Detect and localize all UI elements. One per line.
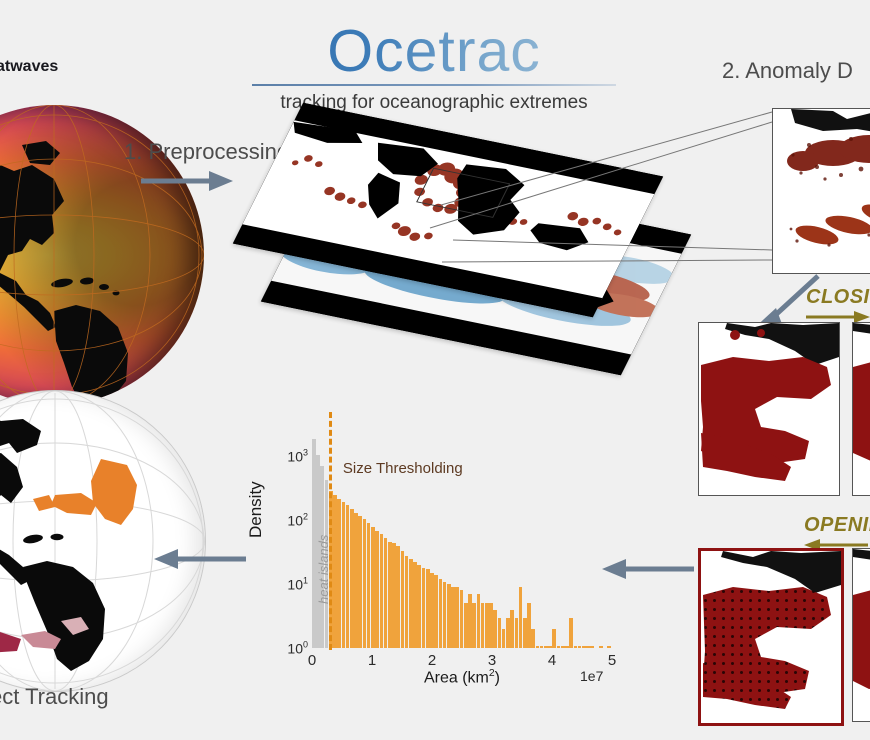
x-axis-title: Area (km2) — [312, 668, 612, 687]
histogram-bar — [358, 516, 362, 648]
page-title: Ocetrac — [236, 22, 632, 81]
histogram-bar — [405, 556, 409, 648]
anomaly-detection-inset — [772, 108, 870, 274]
heat-islands-annotation: heat islands — [316, 535, 331, 604]
histogram-bar — [515, 618, 519, 648]
histogram-bar — [464, 603, 468, 648]
tracked-blob-darkred — [0, 621, 21, 653]
histogram-bar — [367, 523, 371, 648]
histogram-bar — [430, 573, 434, 648]
histogram-bar — [569, 618, 573, 648]
histogram-bar — [350, 509, 354, 648]
x-axis-tick-label: 4 — [548, 652, 556, 669]
brand-title-block: Ocetrac tracking for oceanographic extre… — [236, 22, 632, 114]
histogram-bar — [531, 629, 535, 648]
histogram-bar — [493, 610, 497, 648]
histogram-bar — [422, 568, 426, 648]
histogram-bar — [363, 519, 367, 648]
title-divider — [252, 84, 616, 86]
histogram-bar — [426, 569, 430, 648]
histogram-bar — [401, 551, 405, 648]
size-thresholding-annotation: Size Thresholding — [343, 460, 463, 477]
histogram-bar — [342, 502, 346, 648]
figure-canvas: Ocetrac tracking for oceanographic extre… — [0, 0, 870, 740]
y-axis-tick-label: 103 — [287, 448, 308, 465]
histogram-bar — [481, 603, 485, 648]
histogram-bar — [527, 603, 531, 648]
histogram-bar — [506, 618, 510, 648]
histogram-bar — [472, 603, 476, 648]
opening-dilation-panel — [698, 548, 844, 726]
histogram-bar — [468, 594, 472, 648]
histogram-bar — [455, 587, 459, 648]
tracked-blob-orange — [91, 459, 137, 525]
histogram-bar — [489, 603, 493, 648]
histogram-bar — [346, 505, 350, 648]
y-axis-tick-label: 102 — [287, 512, 308, 529]
histogram-bar — [439, 579, 443, 648]
histogram-plot-area: heat islands Size Thresholding — [312, 426, 612, 648]
x-axis-ticks: 012345 — [312, 648, 612, 670]
histogram-bar — [375, 531, 379, 648]
step2-label: 2. Anomaly D — [722, 58, 853, 84]
opening-erosion-panel — [852, 548, 870, 722]
histogram-bar — [413, 562, 417, 648]
histogram-bar — [510, 610, 514, 648]
arrow-histogram-to-globe — [152, 546, 248, 572]
brand-subtitle: tracking for oceanographic extremes — [236, 92, 632, 114]
histogram-bar — [451, 587, 455, 648]
histogram-bar — [392, 543, 396, 648]
size-distribution-histogram: Density 100101102103 heat islands Size T… — [250, 418, 630, 688]
histogram-bar — [502, 629, 506, 648]
histogram-bar — [443, 582, 447, 648]
histogram-bar — [396, 546, 400, 648]
histogram-bar — [485, 603, 489, 648]
histogram-bar — [409, 559, 413, 648]
x-axis-tick-label: 0 — [308, 652, 316, 669]
histogram-bar — [477, 594, 481, 648]
preprocessing-map-stack — [200, 150, 640, 370]
closing-dilation-panel — [698, 322, 840, 496]
histogram-bar — [434, 575, 438, 648]
tracked-objects-globe — [0, 390, 206, 692]
histogram-bar — [384, 538, 388, 648]
histogram-bar — [519, 587, 523, 648]
step4-label: ect Tracking — [0, 684, 109, 710]
histogram-bar — [354, 513, 358, 648]
x-axis-tick-label: 2 — [428, 652, 436, 669]
globe-graticule-bottom — [0, 391, 205, 691]
histogram-bar — [447, 584, 451, 648]
heatwaves-label: atwaves — [0, 58, 58, 76]
histogram-bar — [337, 499, 341, 648]
closing-label: CLOSING — [806, 286, 870, 309]
histogram-bar — [523, 618, 527, 648]
x-axis-tick-label: 1 — [368, 652, 376, 669]
x-axis-tick-label: 3 — [488, 652, 496, 669]
histogram-bar — [552, 629, 556, 648]
x-axis-tick-label: 5 — [608, 652, 616, 669]
histogram-bar — [371, 527, 375, 649]
histogram-bar — [498, 618, 502, 648]
histogram-bar — [460, 590, 464, 648]
size-threshold-line — [329, 412, 332, 650]
x-axis-exponent: 1e7 — [580, 668, 603, 684]
histogram-bar — [380, 534, 384, 648]
y-axis-ticks: 100101102103 — [250, 426, 308, 648]
y-axis-tick-label: 100 — [287, 640, 308, 657]
histogram-bar — [388, 542, 392, 648]
histogram-bar — [417, 565, 421, 648]
y-axis-tick-label: 101 — [287, 576, 308, 593]
histogram-bar — [333, 495, 337, 648]
closing-erosion-panel — [852, 322, 870, 496]
opening-label: OPENING — [804, 514, 870, 537]
